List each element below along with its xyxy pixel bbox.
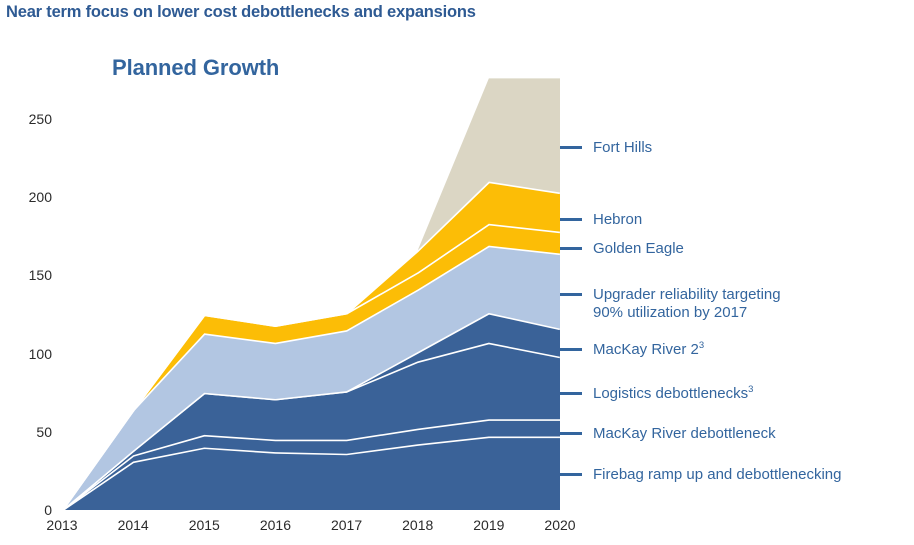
- x-axis-tick-label: 2019: [459, 518, 519, 532]
- legend-item[interactable]: Fort Hills: [560, 139, 652, 157]
- y-axis-tick-label: 0: [12, 503, 52, 517]
- legend-dash-icon: [560, 348, 582, 351]
- x-axis-tick-label: 2017: [317, 518, 377, 532]
- x-axis-tick-label: 2020: [530, 518, 590, 532]
- legend-dash-icon: [560, 473, 582, 476]
- legend-item-label: Fort Hills: [593, 139, 652, 157]
- legend-item[interactable]: Upgrader reliability targeting 90% utili…: [560, 286, 781, 322]
- legend-item-label: Upgrader reliability targeting 90% utili…: [593, 286, 781, 322]
- legend-item-label: Golden Eagle: [593, 240, 684, 258]
- legend-dash-icon: [560, 392, 582, 395]
- chart-legend: Fort HillsHebronGolden EagleUpgrader rel…: [560, 0, 914, 545]
- y-axis-tick-label: 150: [12, 268, 52, 282]
- legend-item-label: Logistics debottlenecks3: [593, 385, 753, 403]
- legend-item[interactable]: Golden Eagle: [560, 240, 684, 258]
- y-axis-tick-label: 50: [12, 425, 52, 439]
- legend-dash-icon: [560, 432, 582, 435]
- y-axis-tick-label: 100: [12, 347, 52, 361]
- x-axis-tick-label: 2018: [388, 518, 448, 532]
- legend-item[interactable]: MacKay River debottleneck: [560, 425, 776, 443]
- legend-item[interactable]: Firebag ramp up and debottlenecking: [560, 466, 842, 484]
- y-axis-tick-label: 250: [12, 112, 52, 126]
- x-axis-tick-label: 2015: [174, 518, 234, 532]
- legend-item-label: Hebron: [593, 211, 642, 229]
- x-axis-tick-label: 2013: [32, 518, 92, 532]
- legend-dash-icon: [560, 146, 582, 149]
- x-axis-tick-label: 2014: [103, 518, 163, 532]
- legend-dash-icon: [560, 247, 582, 250]
- x-axis-tick-label: 2016: [245, 518, 305, 532]
- legend-item[interactable]: Logistics debottlenecks3: [560, 385, 753, 403]
- legend-item[interactable]: Hebron: [560, 211, 642, 229]
- legend-footnote-marker: 3: [699, 340, 704, 351]
- chart-bands: [62, 78, 560, 510]
- legend-item[interactable]: MacKay River 23: [560, 341, 704, 359]
- legend-item-label: MacKay River 23: [593, 341, 704, 359]
- slide-root: Near term focus on lower cost debottlene…: [0, 0, 914, 545]
- y-axis: 050100150200250: [10, 0, 52, 545]
- legend-item-label: Firebag ramp up and debottlenecking: [593, 466, 842, 484]
- legend-footnote-marker: 3: [748, 384, 753, 395]
- y-axis-tick-label: 200: [12, 190, 52, 204]
- legend-item-label: MacKay River debottleneck: [593, 425, 776, 443]
- legend-dash-icon: [560, 218, 582, 221]
- legend-dash-icon: [560, 293, 582, 296]
